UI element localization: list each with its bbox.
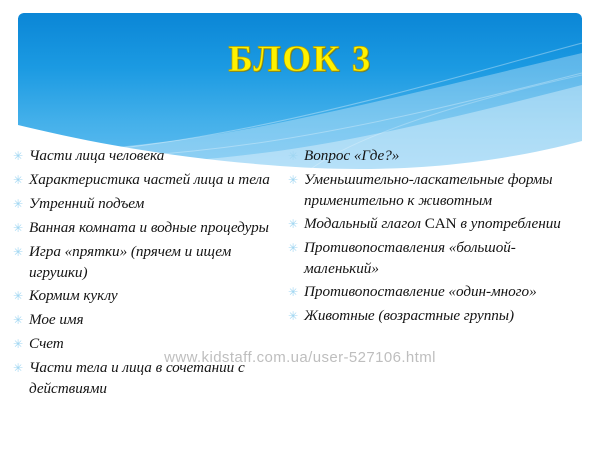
list-item[interactable]: ✳ Игра «прятки» (прячем и ищем игрушки)	[10, 242, 280, 283]
list-item[interactable]: ✳ Животные (возрастные группы)	[285, 306, 585, 327]
asterisk-bullet-icon: ✳	[285, 214, 304, 235]
list-item-label: Утренний подъем	[29, 194, 280, 215]
bullet-list-left: ✳ Части лица человека ✳ Характеристика ч…	[10, 146, 280, 402]
list-item[interactable]: ✳ Мое имя	[10, 310, 280, 331]
list-item-label: Животные (возрастные группы)	[304, 306, 585, 327]
list-item-label: Вопрос «Где?»	[304, 146, 585, 167]
list-item[interactable]: ✳ Характеристика частей лица и тела	[10, 170, 280, 191]
asterisk-bullet-icon: ✳	[285, 170, 304, 191]
asterisk-bullet-icon: ✳	[10, 310, 29, 331]
list-item-label: Противопоставления «большой-маленький»	[304, 238, 585, 279]
list-item[interactable]: ✳ Кормим куклу	[10, 286, 280, 307]
asterisk-bullet-icon: ✳	[10, 218, 29, 239]
presentation-slide: БЛОК 3 ✳ Части лица человека ✳ Характери…	[0, 0, 600, 450]
list-item-label: Игра «прятки» (прячем и ищем игрушки)	[29, 242, 280, 283]
list-item[interactable]: ✳ Противопоставления «большой-маленький»	[285, 238, 585, 279]
modal-verb-can: CAN	[425, 215, 457, 232]
asterisk-bullet-icon: ✳	[10, 286, 29, 307]
list-item-label: Характеристика частей лица и тела	[29, 170, 280, 191]
list-item[interactable]: ✳ Части лица человека	[10, 146, 280, 167]
asterisk-bullet-icon: ✳	[10, 242, 29, 263]
list-item-label: Части лица человека	[29, 146, 280, 167]
list-item-text-prefix: Модальный глагол	[304, 215, 425, 232]
asterisk-bullet-icon: ✳	[285, 306, 304, 327]
asterisk-bullet-icon: ✳	[10, 146, 29, 167]
asterisk-bullet-icon: ✳	[10, 358, 29, 379]
list-item[interactable]: ✳ Счет	[10, 334, 280, 355]
asterisk-bullet-icon: ✳	[10, 170, 29, 191]
list-item-label: Кормим куклу	[29, 286, 280, 307]
list-item[interactable]: ✳ Противопоставление «один-много»	[285, 282, 585, 303]
list-item-label: Ванная комната и водные процедуры	[29, 218, 280, 239]
list-item-label: Уменьшительно-ласкательные формы примени…	[304, 170, 585, 211]
list-item[interactable]: ✳ Ванная комната и водные процедуры	[10, 218, 280, 239]
asterisk-bullet-icon: ✳	[285, 146, 304, 167]
list-item-label: Модальный глагол CAN в употреблении	[304, 214, 585, 235]
list-item[interactable]: ✳ Части тела и лица в сочетании с действ…	[10, 358, 280, 399]
list-item-label: Мое имя	[29, 310, 280, 331]
list-item[interactable]: ✳ Модальный глагол CAN в употреблении	[285, 214, 585, 235]
list-item-label: Противопоставление «один-много»	[304, 282, 585, 303]
list-item[interactable]: ✳ Вопрос «Где?»	[285, 146, 585, 167]
asterisk-bullet-icon: ✳	[10, 194, 29, 215]
list-item-label: Части тела и лица в сочетании с действия…	[29, 358, 280, 399]
asterisk-bullet-icon: ✳	[285, 238, 304, 259]
bullet-list-right: ✳ Вопрос «Где?» ✳ Уменьшительно-ласкател…	[285, 146, 585, 330]
list-item[interactable]: ✳ Уменьшительно-ласкательные формы приме…	[285, 170, 585, 211]
list-item[interactable]: ✳ Утренний подъем	[10, 194, 280, 215]
content-columns: ✳ Части лица человека ✳ Характеристика ч…	[0, 146, 600, 450]
asterisk-bullet-icon: ✳	[10, 334, 29, 355]
asterisk-bullet-icon: ✳	[285, 282, 304, 303]
list-item-label: Счет	[29, 334, 280, 355]
list-item-text-suffix: в употреблении	[457, 215, 561, 232]
